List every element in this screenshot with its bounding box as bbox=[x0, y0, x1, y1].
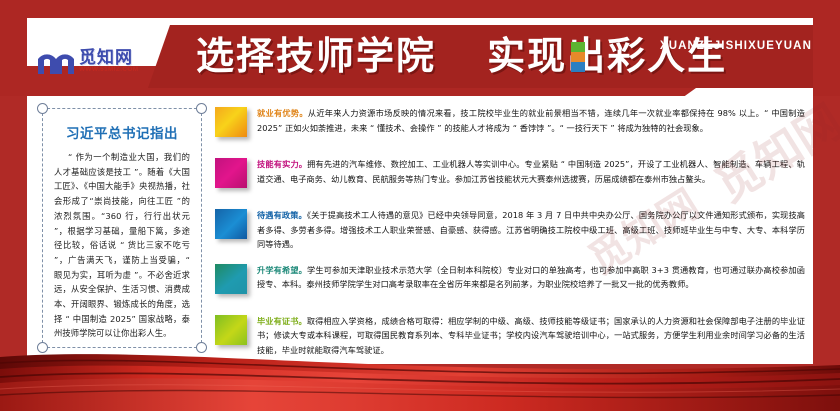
color-accent-icon bbox=[571, 42, 585, 72]
site-logo[interactable]: 觅知网 WWW.51MIZ.COM bbox=[36, 43, 142, 79]
poster-canvas: 选择技师学院 实现出彩人生 XUANZEJISHIXUEYUAN 觅知网 WWW… bbox=[0, 0, 840, 411]
list-item-text: 升学有希望。学生可参加天津职业技术示范大学（全日制本科院校）专业对口的单独高考，… bbox=[257, 259, 805, 292]
list-item: 升学有希望。学生可参加天津职业技术示范大学（全日制本科院校）专业对口的单独高考，… bbox=[213, 259, 805, 303]
page-title: 选择技师学院 实现出彩人生 bbox=[196, 30, 727, 84]
list-item-body: 拥有先进的汽车维修、数控加工、工业机器人等实训中心。专业紧贴 “ 中国制造 20… bbox=[257, 159, 805, 184]
page-title-part-1: 选择技师学院 bbox=[196, 30, 436, 84]
list-item-body: 学生可参加天津职业技术示范大学（全日制本科院校）专业对口的单独高考，也可参加中高… bbox=[257, 265, 805, 290]
quote-sidebar: 习近平总书记指出 “ 作为一个制造业大国，我们的人才基础应该是技工 ”。随着《大… bbox=[42, 108, 202, 348]
corner-dot-top-left bbox=[37, 103, 48, 114]
quote-body: “ 作为一个制造业大国，我们的人才基础应该是技工 ”。随着《大国工匠》、《中国大… bbox=[54, 150, 190, 341]
m-logo-icon bbox=[36, 46, 76, 76]
list-item-lead: 就业有优势。 bbox=[257, 108, 308, 118]
title-pinyin: XUANZEJISHIXUEYUAN bbox=[660, 40, 812, 52]
bullet-swatch-icon bbox=[215, 209, 247, 239]
logo-text-group: 觅知网 WWW.51MIZ.COM bbox=[79, 49, 139, 74]
list-item-lead: 技能有实力。 bbox=[257, 159, 307, 169]
accent-blue-bar bbox=[571, 62, 585, 72]
bullet-swatch-icon bbox=[215, 158, 247, 188]
list-item-lead: 待遇有政策。 bbox=[257, 210, 307, 220]
list-item-lead: 毕业有证书。 bbox=[257, 316, 307, 326]
list-item-body: 《关于提高技术工人待遇的意见》已经中央领导同意，2018 年 3 月 7 日中共… bbox=[257, 210, 805, 249]
list-item: 待遇有政策。《关于提高技术工人待遇的意见》已经中央领导同意，2018 年 3 月… bbox=[213, 204, 805, 252]
accent-green-bar bbox=[571, 42, 585, 52]
list-item: 就业有优势。从近年来人力资源市场反映的情况来看，技工院校毕业生的就业前景相当不错… bbox=[213, 102, 805, 146]
bottom-ribbon-decoration bbox=[0, 339, 840, 411]
list-item-text: 技能有实力。拥有先进的汽车维修、数控加工、工业机器人等实训中心。专业紧贴 “ 中… bbox=[257, 153, 805, 186]
logo-url: WWW.51MIZ.COM bbox=[79, 66, 139, 74]
benefits-list: 就业有优势。从近年来人力资源市场反映的情况来看，技工院校毕业生的就业前景相当不错… bbox=[213, 102, 805, 365]
accent-orange-bar bbox=[571, 52, 585, 62]
bullet-swatch-icon bbox=[215, 107, 247, 137]
corner-dot-top-right bbox=[196, 103, 207, 114]
list-item-text: 待遇有政策。《关于提高技术工人待遇的意见》已经中央领导同意，2018 年 3 月… bbox=[257, 204, 805, 252]
list-item: 技能有实力。拥有先进的汽车维修、数控加工、工业机器人等实训中心。专业紧贴 “ 中… bbox=[213, 153, 805, 197]
logo-name: 觅知网 bbox=[79, 49, 139, 67]
list-item-lead: 升学有希望。 bbox=[257, 265, 307, 275]
page-title-part-2: 实现出彩人生 bbox=[487, 30, 727, 84]
list-item-text: 就业有优势。从近年来人力资源市场反映的情况来看，技工院校毕业生的就业前景相当不错… bbox=[257, 102, 805, 135]
content-card: 习近平总书记指出 “ 作为一个制造业大国，我们的人才基础应该是技工 ”。随着《大… bbox=[27, 96, 813, 364]
bullet-swatch-icon bbox=[215, 264, 247, 294]
quote-heading: 习近平总书记指出 bbox=[43, 122, 201, 142]
list-item-body: 从近年来人力资源市场反映的情况来看，技工院校毕业生的就业前景相当不错，连续几年一… bbox=[257, 108, 805, 133]
